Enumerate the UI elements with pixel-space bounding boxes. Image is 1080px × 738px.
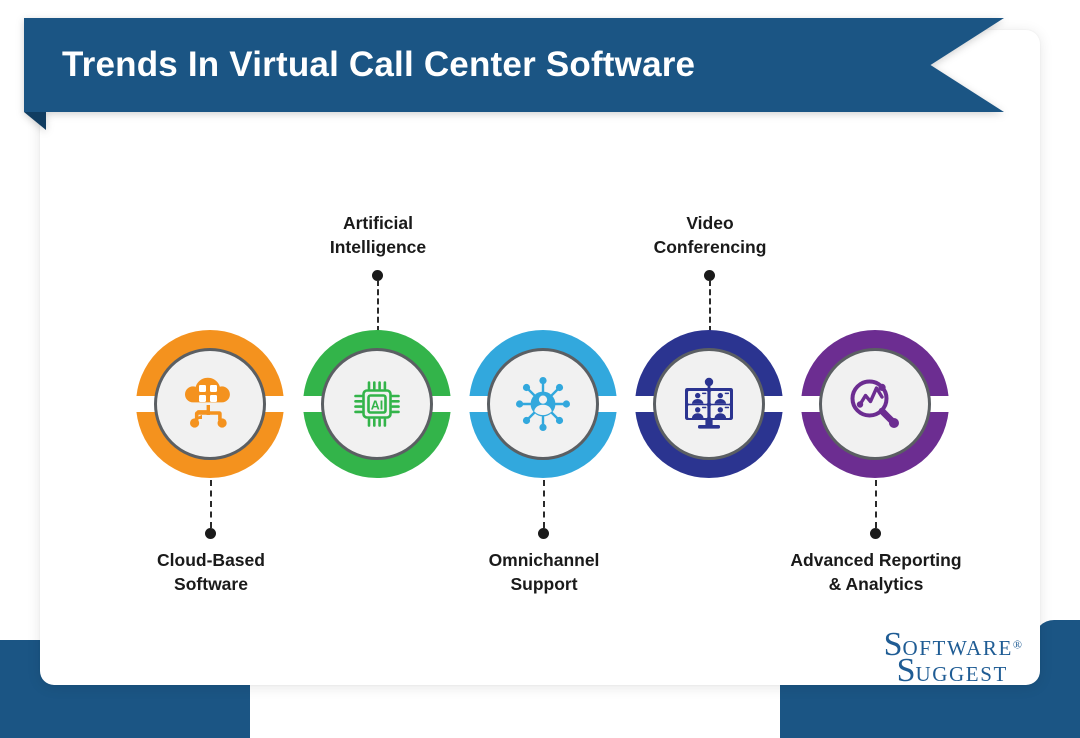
timeline-node-cloud-based-software[interactable]	[136, 330, 284, 478]
ai-chip-icon: AI	[347, 374, 407, 434]
logo-line-2-text: UGGEST	[916, 662, 1008, 686]
timeline-node-artificial-intelligence[interactable]: AI	[303, 330, 451, 478]
ring-gap-right	[929, 396, 953, 412]
omnichannel-network-icon	[512, 373, 574, 435]
node-icon-disc	[154, 348, 266, 460]
label-advanced-reporting-analytics: Advanced Reporting & Analytics	[761, 548, 991, 596]
label-line-2: Software	[96, 572, 326, 596]
label-line-1: Artificial	[263, 211, 493, 235]
video-conference-icon	[678, 375, 740, 433]
ring-gap-right	[597, 396, 621, 412]
node-icon-disc	[653, 348, 765, 460]
ring-gap-left	[299, 396, 323, 412]
ribbon-body: Trends In Virtual Call Center Software	[24, 18, 1004, 112]
ring-gap-left	[631, 396, 655, 412]
cloud-computing-icon	[179, 375, 241, 433]
page-title: Trends In Virtual Call Center Software	[24, 45, 695, 85]
logo-line-2: SUGGEST	[897, 655, 1022, 686]
ring-gap-left	[797, 396, 821, 412]
node-icon-disc: AI	[321, 348, 433, 460]
timeline-node-advanced-reporting-analytics[interactable]	[801, 330, 949, 478]
label-line-1: Advanced Reporting	[761, 548, 991, 572]
analytics-magnifier-icon	[844, 373, 906, 435]
header-ribbon: Trends In Virtual Call Center Software	[24, 18, 1024, 120]
label-line-2: Conferencing	[595, 235, 825, 259]
ring-gap-right	[264, 396, 288, 412]
label-video-conferencing: Video Conferencing	[595, 211, 825, 259]
logo-line-2-capital: S	[897, 652, 916, 689]
ring-gap-left	[465, 396, 489, 412]
label-artificial-intelligence: Artificial Intelligence	[263, 211, 493, 259]
leader-line-artificial-intelligence	[377, 280, 379, 332]
svg-text:AI: AI	[371, 398, 384, 412]
leader-dot-cloud-based-software	[205, 528, 216, 539]
timeline-node-video-conferencing[interactable]	[635, 330, 783, 478]
ring-gap-left	[132, 396, 156, 412]
leader-line-video-conferencing	[709, 280, 711, 332]
label-cloud-based-software: Cloud-Based Software	[96, 548, 326, 596]
label-line-2: Support	[429, 572, 659, 596]
softwaresuggest-logo[interactable]: SOFTWARE® SUGGEST	[884, 629, 1022, 686]
label-line-2: & Analytics	[761, 572, 991, 596]
timeline-nodes-row: AI	[40, 330, 1040, 480]
ring-gap-right	[763, 396, 787, 412]
leader-dot-advanced-reporting-analytics	[870, 528, 881, 539]
leader-dot-omnichannel-support	[538, 528, 549, 539]
timeline: Artificial Intelligence Video Conferenci…	[40, 30, 1040, 685]
leader-line-omnichannel-support	[543, 480, 545, 528]
timeline-node-omnichannel-support[interactable]	[469, 330, 617, 478]
leader-line-advanced-reporting-analytics	[875, 480, 877, 528]
infographic-canvas: Trends In Virtual Call Center Software A…	[0, 0, 1080, 738]
ring-gap-right	[431, 396, 455, 412]
node-icon-disc	[819, 348, 931, 460]
label-line-1: Video	[595, 211, 825, 235]
label-line-1: Cloud-Based	[96, 548, 326, 572]
label-omnichannel-support: Omnichannel Support	[429, 548, 659, 596]
node-icon-disc	[487, 348, 599, 460]
label-line-1: Omnichannel	[429, 548, 659, 572]
label-line-2: Intelligence	[263, 235, 493, 259]
registered-trademark-icon: ®	[1013, 638, 1022, 652]
leader-line-cloud-based-software	[210, 480, 212, 528]
